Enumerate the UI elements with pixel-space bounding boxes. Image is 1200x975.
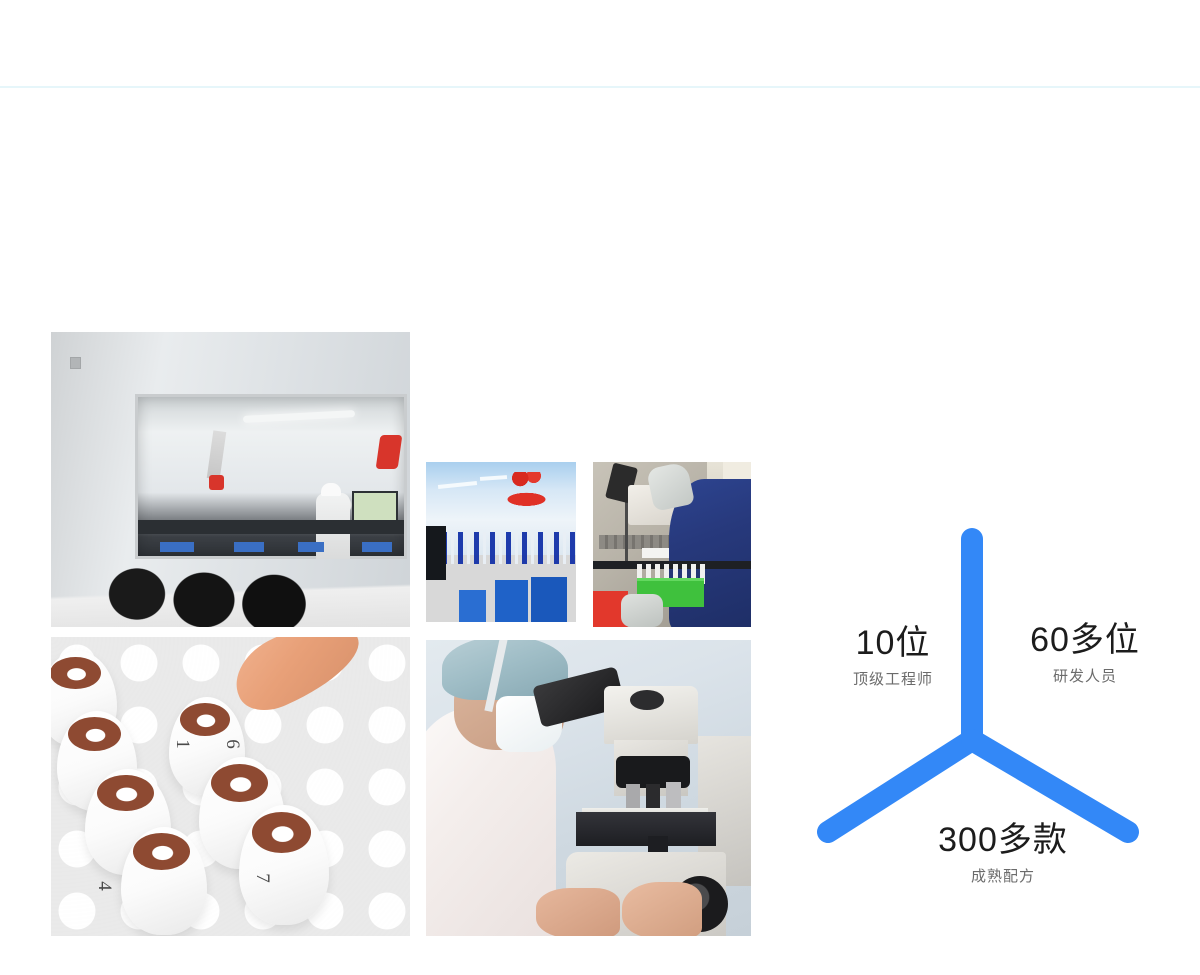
stat-formulas: 300多款 成熟配方 <box>878 820 1128 886</box>
blue-cabinet <box>495 580 528 622</box>
lab-bench <box>138 520 404 534</box>
wall-panel-icon <box>70 357 81 369</box>
stat-engineers: 10位 顶级工程师 <box>818 623 968 689</box>
photo-microscope[interactable]: 显微镜镜检 <box>426 640 751 936</box>
branch-right <box>972 740 1128 832</box>
stat-formulas-value: 300多款 <box>878 820 1128 861</box>
cleanroom-scene <box>51 332 410 627</box>
technician-hand <box>536 888 620 936</box>
stat-rd-staff-label: 研发人员 <box>990 665 1180 686</box>
photo-eggs[interactable]: 1 6 4 7 鸡胚接种试验 <box>51 637 410 936</box>
egg-number-marking: 7 <box>251 873 273 883</box>
stat-formulas-label: 成熟配方 <box>878 865 1128 886</box>
egg-tray-scene: 1 6 4 7 <box>51 637 410 936</box>
bench-drawer <box>362 542 392 552</box>
page-root: 实验室观察窗与会议区 化验分析实验室 <box>0 0 1200 975</box>
glove-icon <box>646 462 695 512</box>
red-apparatus <box>504 472 549 510</box>
blue-cabinet <box>531 577 567 622</box>
monitor-screen <box>352 491 398 523</box>
technician-hand <box>622 882 702 936</box>
stat-rd-staff-value: 60多位 <box>990 620 1180 661</box>
stat-engineers-label: 顶级工程师 <box>818 668 968 689</box>
stat-rd-staff: 60多位 研发人员 <box>990 620 1180 686</box>
biosafety-cabinet-scene <box>593 462 751 627</box>
microscope-stage <box>576 812 716 846</box>
red-hook-icon <box>209 475 224 490</box>
photo-cleanroom[interactable]: 实验室观察窗与会议区 <box>51 332 410 627</box>
stat-engineers-value: 10位 <box>818 623 968 664</box>
bench-drawer <box>298 542 324 552</box>
egg-number-marking: 6 <box>221 739 243 749</box>
ceiling-lamp-icon <box>243 410 355 423</box>
red-valve-icon <box>376 435 403 469</box>
microscope-scene <box>426 640 751 936</box>
bench-drawer <box>234 542 264 552</box>
photo-tubes[interactable]: 生物安全柜取样 <box>593 462 751 627</box>
egg-number-marking: 4 <box>93 881 115 891</box>
worker-cap <box>321 483 341 496</box>
egg-number-marking: 1 <box>171 739 193 749</box>
glove-icon <box>621 594 662 627</box>
lab-scene <box>426 462 576 622</box>
top-divider <box>0 86 1200 88</box>
blue-cabinet <box>459 590 486 622</box>
stats-diagram: 10位 顶级工程师 60多位 研发人员 300多款 成熟配方 <box>800 520 1200 920</box>
photo-lab[interactable]: 化验分析实验室 <box>426 462 576 622</box>
branch-left <box>828 740 972 832</box>
bench-drawer <box>160 542 194 552</box>
microscope-dial <box>630 690 664 710</box>
observation-window <box>135 394 407 559</box>
hoist-arm <box>207 430 227 479</box>
